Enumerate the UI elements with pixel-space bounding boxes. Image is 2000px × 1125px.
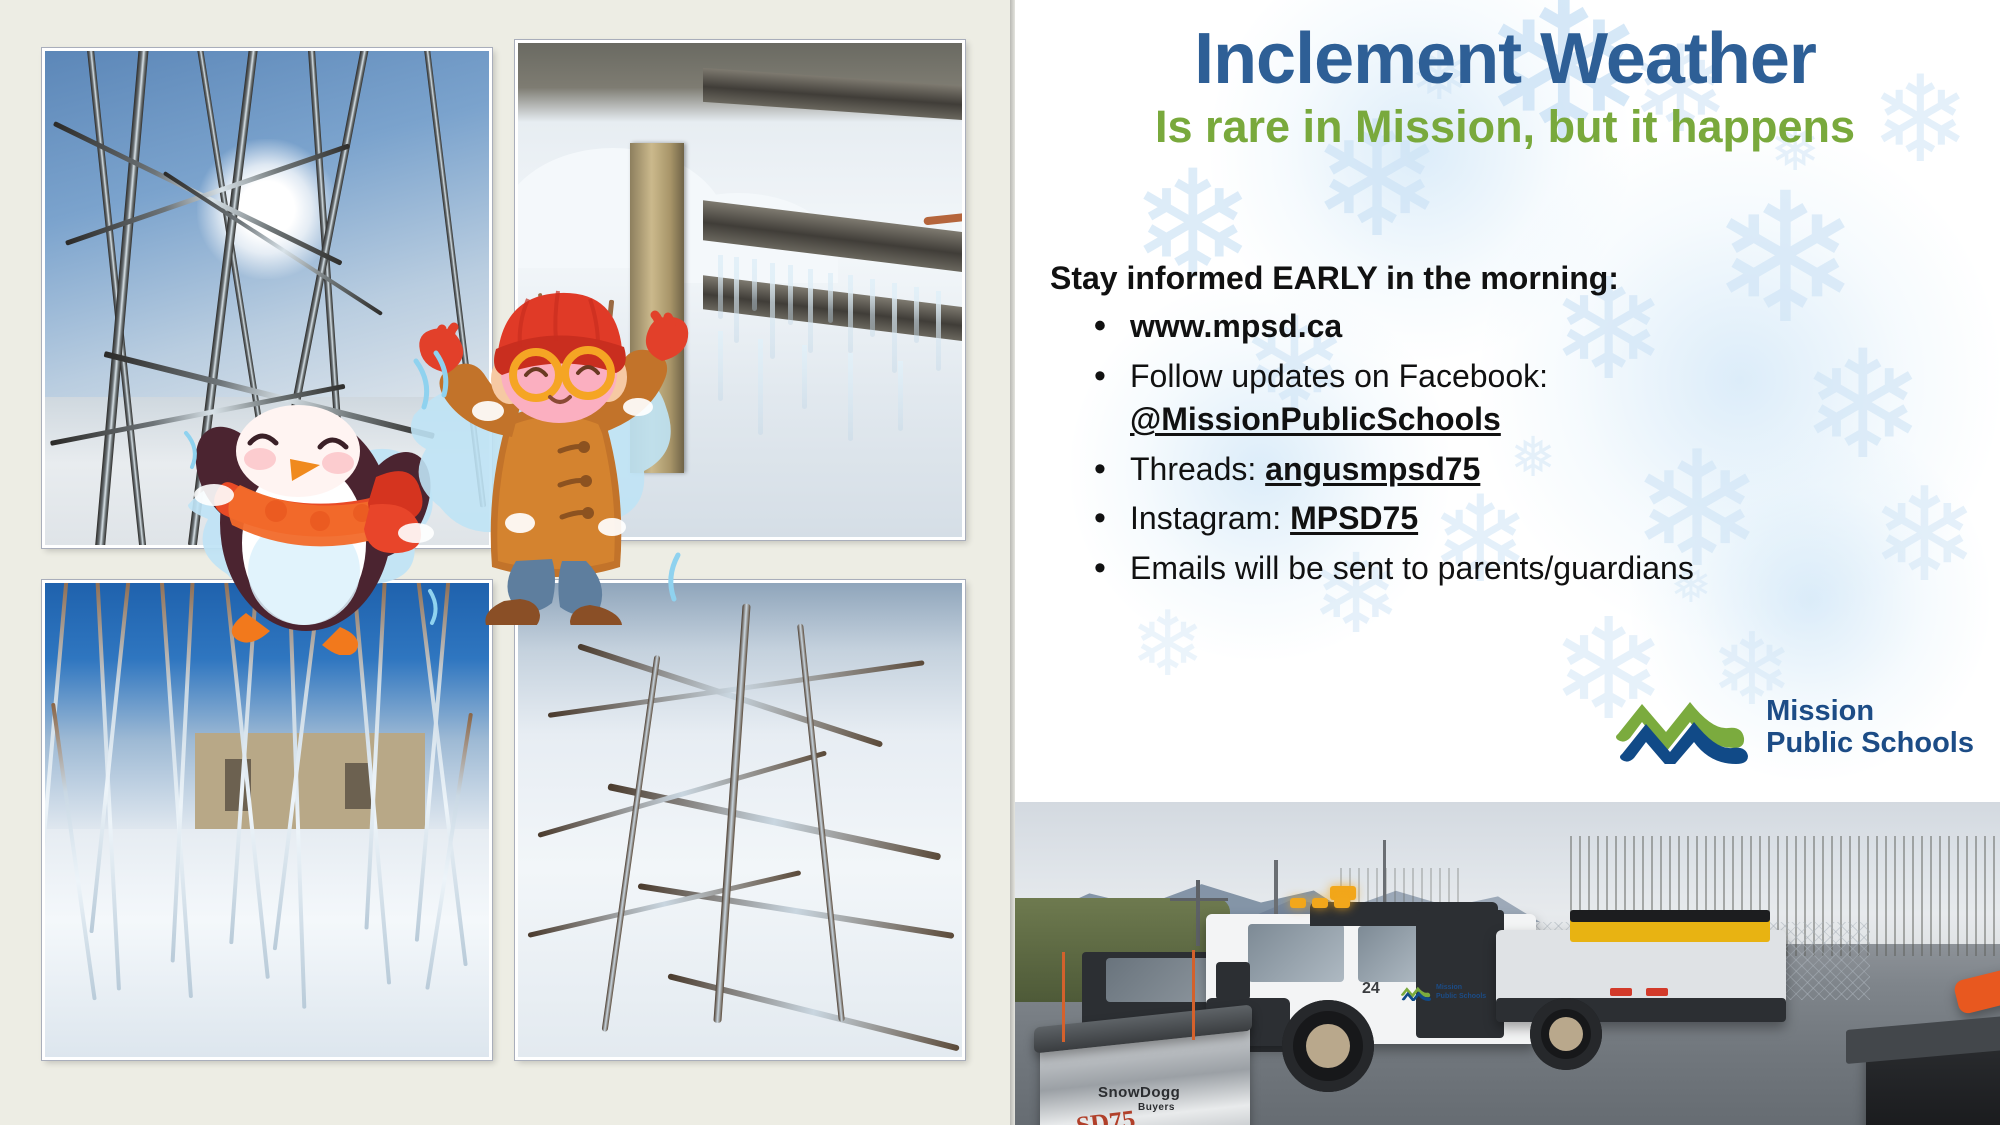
facebook-handle-link[interactable]: @MissionPublicSchools — [1130, 398, 1980, 442]
logo-line-1: Mission — [1766, 695, 1974, 727]
mission-public-schools-mountain-icon — [1612, 690, 1752, 764]
stay-informed-heading: Stay informed EARLY in the morning: — [1050, 260, 1980, 297]
list-item-facebook: Follow updates on Facebook: @MissionPubl… — [1088, 355, 1980, 442]
snowflake-icon: ❄ — [1130, 600, 1205, 690]
page-subtitle: Is rare in Mission, but it happens — [1010, 102, 2000, 152]
truck-door-number: 24 — [1362, 980, 1380, 998]
amber-beacon-icon — [1334, 898, 1350, 908]
logo-line-2: Public Schools — [1766, 727, 1974, 759]
district-logo: Mission Public Schools — [1612, 690, 1974, 764]
truck-door-logo-line-1: Mission — [1436, 984, 1462, 991]
amber-beacon-icon — [1290, 898, 1306, 908]
list-item-threads: Threads: angusmpsd75 — [1088, 448, 1980, 492]
instagram-label: Instagram: — [1130, 500, 1290, 536]
website-label: www.mpsd.ca — [1130, 308, 1342, 344]
photo-snow-fleet: 24 Mission Public Schools SnowDogg Buyer… — [1010, 802, 2000, 1125]
plow-sub-brand-label: Buyers — [1138, 1102, 1175, 1113]
facebook-label: Follow updates on Facebook: — [1130, 358, 1548, 394]
snow-angel-child-sticker-icon — [400, 265, 715, 625]
emails-label: Emails will be sent to parents/guardians — [1130, 550, 1694, 586]
list-item-instagram: Instagram: MPSD75 — [1088, 497, 1980, 541]
amber-beacon-icon — [1312, 898, 1328, 908]
information-block: Stay informed EARLY in the morning: www.… — [1050, 260, 1980, 596]
headline-block: Inclement Weather Is rare in Mission, bu… — [1010, 22, 2000, 153]
threads-label: Threads: — [1130, 451, 1265, 487]
list-item-emails: Emails will be sent to parents/guardians — [1088, 547, 1980, 591]
info-panel: ❄ ❄ ❄ ❄ ❄ ❄ ❄ ❄ ❄ ❄ ❄ ❄ ❄ ❄ ❄ ❄ ❅ ❅ ❅ ❅ … — [1010, 0, 2000, 1125]
plow-brand-label: SnowDogg — [1098, 1084, 1180, 1101]
truck-door-logo-line-2: Public Schools — [1436, 993, 1486, 1000]
instagram-handle-link[interactable]: MPSD75 — [1290, 500, 1418, 536]
photo-ice-shrub — [515, 580, 965, 1060]
info-list: www.mpsd.ca Follow updates on Facebook: … — [1088, 305, 1980, 590]
page-title: Inclement Weather — [1010, 22, 2000, 96]
panel-divider — [1010, 0, 1015, 1125]
threads-handle-link[interactable]: angusmpsd75 — [1265, 451, 1480, 487]
truck-door-logo-icon — [1400, 984, 1432, 1001]
photo-collage-panel — [0, 0, 1010, 1125]
logo-text: Mission Public Schools — [1766, 695, 1974, 760]
inclement-weather-poster: ❄ ❄ ❄ ❄ ❄ ❄ ❄ ❄ ❄ ❄ ❄ ❄ ❄ ❄ ❄ ❄ ❅ ❅ ❅ ❅ … — [0, 0, 2000, 1125]
list-item-website: www.mpsd.ca — [1088, 305, 1980, 349]
